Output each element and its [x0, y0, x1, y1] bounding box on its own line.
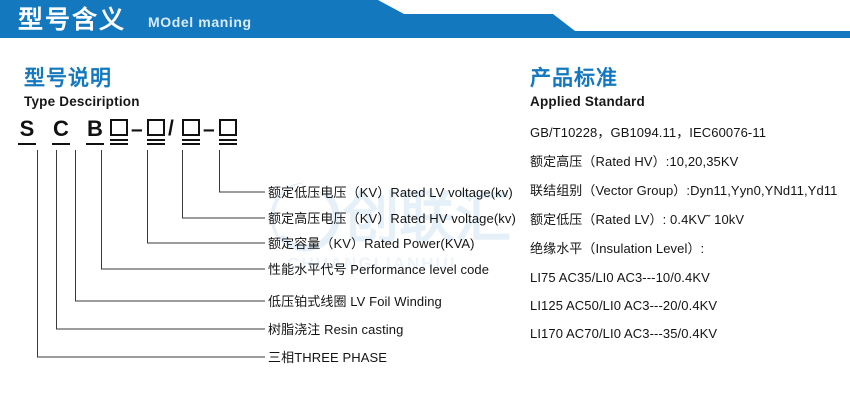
standard-line-li170: LI170 AC70/LI0 AC3---35/0.4KV: [530, 325, 717, 342]
callout-label-hv-voltage: 额定高压电压（KV）Rated HV voltage(kv): [268, 210, 516, 227]
callout-label-lv-voltage: 额定低压电压（KV）Rated LV voltage(kv): [268, 184, 513, 201]
section-heading-applied-standard: 产品标准 Applied Standard: [530, 66, 645, 111]
standard-line-insulation-level: 绝缘水平（Insulation Level）:: [530, 240, 704, 257]
callout-label-resin-casting: 树脂浇注 Resin casting: [268, 321, 403, 338]
leader-box-4: [220, 150, 266, 192]
callout-label-lv-foil-winding: 低压铂式线圈 LV Foil Winding: [268, 293, 442, 310]
standard-line-gb-iec: GB/T10228，GB1094.11，IEC60076-11: [530, 124, 766, 141]
leader-box-3: [183, 150, 266, 218]
standard-line-rated-lv: 额定低压（Rated LV）: 0.4KV˜ 10kV: [530, 211, 744, 228]
standard-line-vector-group: 联结组别（Vector Group）:Dyn11,Yyn0,YNd11,Yd11: [530, 182, 837, 199]
section-heading-cn: 产品标准: [530, 66, 645, 91]
standard-line-rated-hv: 额定高压（Rated HV）:10,20,35KV: [530, 153, 738, 170]
standard-line-li125: LI125 AC50/LI0 AC3---20/0.4KV: [530, 297, 717, 314]
leader-box-1: [102, 150, 266, 269]
leader-letter-b: [76, 150, 266, 301]
standard-line-li75: LI75 AC35/LI0 AC3---10/0.4KV: [530, 269, 710, 286]
leader-box-2: [148, 150, 266, 243]
callout-label-rated-power: 额定容量（KV）Rated Power(KVA): [268, 235, 475, 252]
leader-letter-c: [57, 150, 266, 329]
leader-letter-s: [38, 150, 266, 357]
section-heading-en: Applied Standard: [530, 93, 645, 111]
callout-label-three-phase: 三相THREE PHASE: [268, 349, 387, 366]
callout-label-performance-level: 性能水平代号 Performance level code: [268, 261, 489, 278]
